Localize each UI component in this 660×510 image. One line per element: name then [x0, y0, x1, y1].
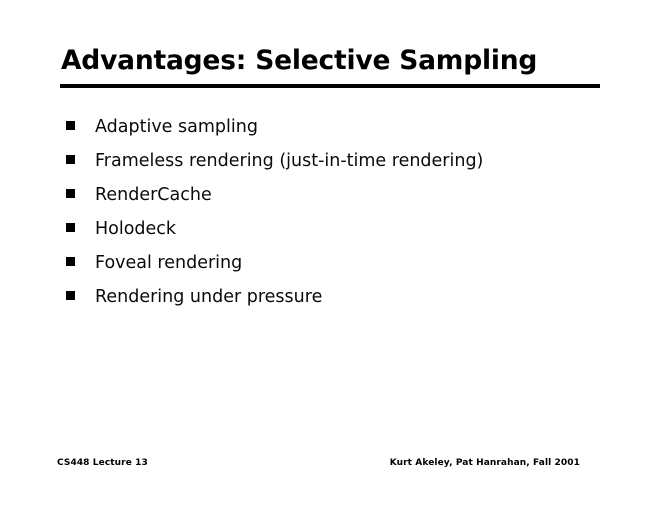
page-title: Advantages: Selective Sampling — [61, 46, 606, 76]
square-bullet-icon — [66, 291, 75, 300]
list-item-label: Foveal rendering — [95, 252, 242, 274]
list-item-label: Rendering under pressure — [95, 286, 322, 308]
list-item: Holodeck — [66, 212, 606, 246]
square-bullet-icon — [66, 155, 75, 164]
list-item: RenderCache — [66, 178, 606, 212]
list-item-label: Frameless rendering (just-in-time render… — [95, 150, 483, 172]
title-divider — [60, 84, 600, 88]
list-item: Adaptive sampling — [66, 110, 606, 144]
list-item: Foveal rendering — [66, 246, 606, 280]
square-bullet-icon — [66, 257, 75, 266]
square-bullet-icon — [66, 189, 75, 198]
footer-course-label: CS448 Lecture 13 — [57, 458, 148, 468]
square-bullet-icon — [66, 121, 75, 130]
list-item-label: Holodeck — [95, 218, 176, 240]
presentation-slide: Advantages: Selective Sampling Adaptive … — [0, 0, 660, 510]
square-bullet-icon — [66, 223, 75, 232]
list-item: Rendering under pressure — [66, 280, 606, 314]
bullet-list: Adaptive sampling Frameless rendering (j… — [66, 110, 606, 314]
list-item: Frameless rendering (just-in-time render… — [66, 144, 606, 178]
list-item-label: Adaptive sampling — [95, 116, 258, 138]
footer-authors-label: Kurt Akeley, Pat Hanrahan, Fall 2001 — [390, 458, 580, 468]
list-item-label: RenderCache — [95, 184, 212, 206]
